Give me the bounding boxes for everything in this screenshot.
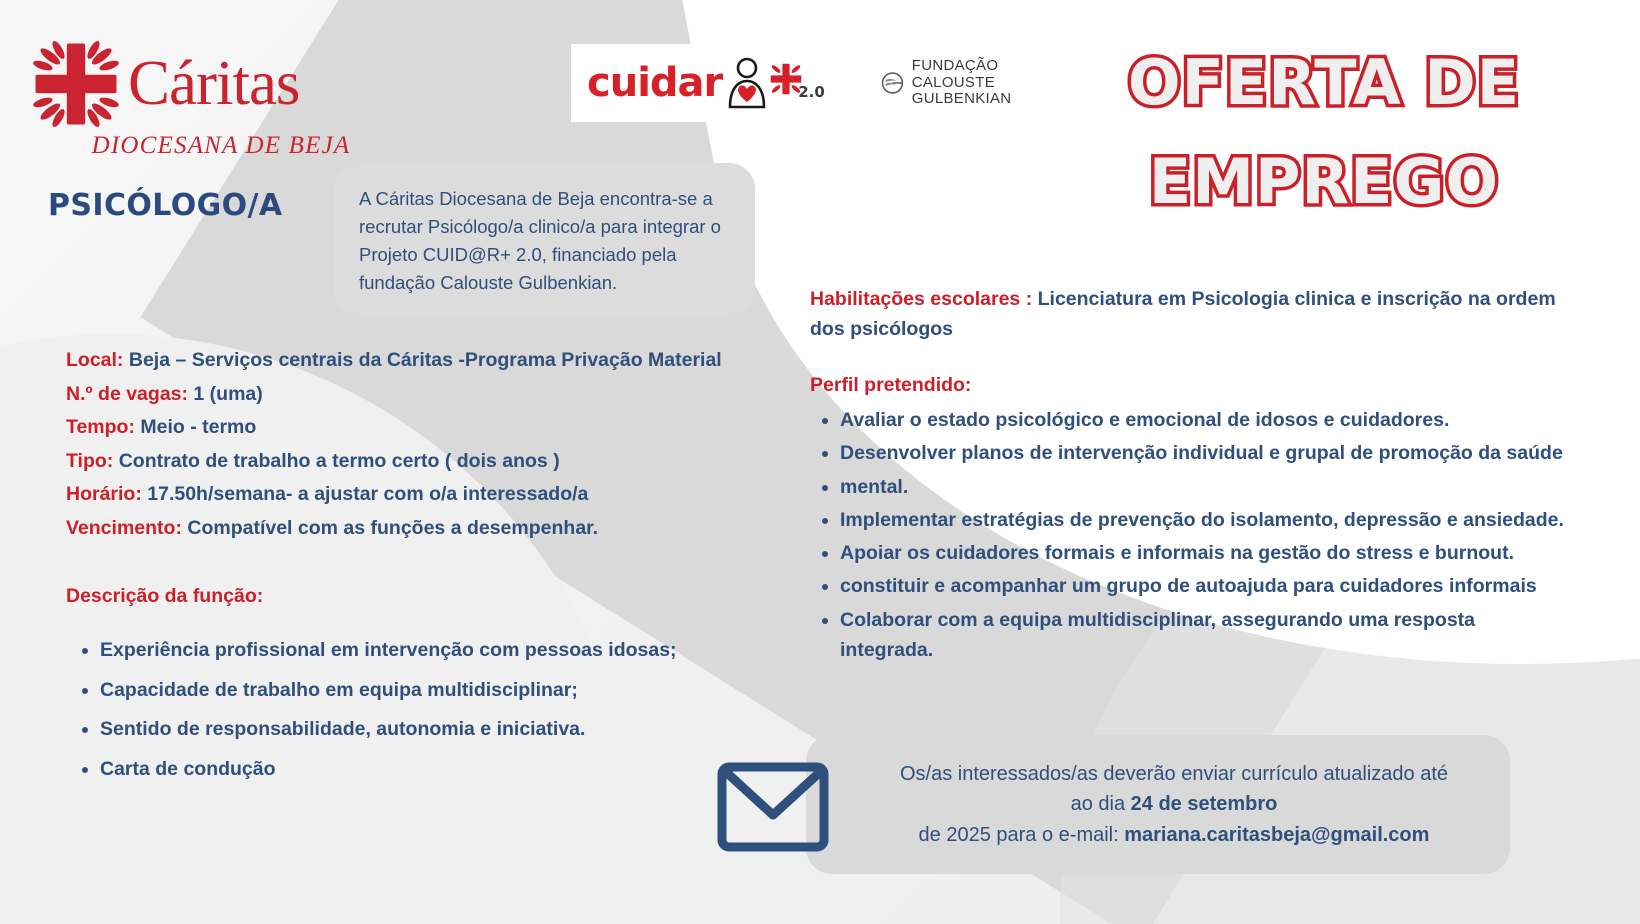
detail-row-horario: Horário: 17.50h/semana- a ajustar com o/…	[66, 478, 796, 512]
job-intro-text: A Cáritas Diocesana de Beja encontra-se …	[359, 185, 729, 297]
list-item: Carta de condução	[100, 753, 796, 787]
detail-label: Local:	[66, 349, 123, 371]
detail-row-tempo: Tempo: Meio - termo	[66, 411, 796, 445]
detail-row-local: Local: Beja – Serviços centrais da Cárit…	[66, 344, 796, 378]
qualifications-row: Habilitações escolares : Licenciatura em…	[810, 285, 1570, 344]
detail-row-vencimento: Vencimento: Compatível com as funções a …	[66, 512, 796, 546]
job-offer-poster: Cáritas DIOCESANA DE BEJA cuidar	[0, 0, 1640, 924]
job-intro-box: A Cáritas Diocesana de Beja encontra-se …	[333, 163, 755, 317]
detail-row-vagas: N.º de vagas: 1 (uma)	[66, 378, 796, 412]
detail-value: Contrato de trabalho a termo certo ( doi…	[113, 450, 559, 472]
gulbenkian-line2: CALOUSTE GULBENKIAN	[912, 75, 1055, 109]
list-item: Avaliar o estado psicológico e emocional…	[840, 405, 1570, 435]
list-item: Experiência profissional em intervenção …	[100, 634, 796, 668]
poster-headline: OFERTA DE EMPREGO	[1044, 48, 1604, 217]
cuidar-version-label: 2.0	[798, 83, 825, 101]
contact-line-3: de 2025 para o e-mail: mariana.caritasbe…	[864, 820, 1484, 850]
list-item: Capacidade de trabalho em equipa multidi…	[100, 674, 796, 708]
detail-value: Compatível com as funções a desempenhar.	[182, 517, 598, 539]
list-item: Implementar estratégias de prevenção do …	[840, 505, 1570, 535]
contact-line-2: ao dia 24 de setembro	[864, 789, 1484, 819]
detail-value: 1 (uma)	[188, 383, 263, 405]
headline-line-1: OFERTA DE	[1044, 48, 1604, 117]
job-details-list: Local: Beja – Serviços centrais da Cárit…	[66, 344, 796, 545]
list-item: mental.	[840, 472, 1570, 502]
contact-block: Os/as interessados/as deverão enviar cur…	[714, 735, 1510, 874]
gulbenkian-line1: FUNDAÇÃO	[912, 58, 1055, 75]
contact-line-1: Os/as interessados/as deverão enviar cur…	[864, 759, 1484, 789]
detail-label: Vencimento:	[66, 517, 182, 539]
detail-value: 17.50h/semana- a ajustar com o/a interes…	[142, 483, 589, 505]
description-list: Experiência profissional em intervenção …	[66, 634, 796, 786]
detail-value: Beja – Serviços centrais da Cáritas -Pro…	[123, 349, 721, 371]
caregiver-figure-icon	[724, 57, 770, 109]
cuidar-wordmark: cuidar	[587, 60, 722, 106]
caritas-logo: Cáritas DIOCESANA DE BEJA	[30, 38, 360, 160]
contact-line-3-prefix: de 2025 para o e-mail:	[919, 824, 1125, 846]
caritas-cross-icon	[30, 38, 122, 130]
list-item: Desenvolver planos de intervenção indivi…	[840, 438, 1570, 468]
list-item: Colaborar com a equipa multidisciplinar,…	[840, 605, 1570, 665]
list-item: Sentido de responsabilidade, autonomia e…	[100, 713, 796, 747]
detail-label: N.º de vagas:	[66, 383, 188, 405]
deadline-date: 24 de setembro	[1131, 793, 1278, 815]
list-item: Apoiar os cuidadores formais e informais…	[840, 538, 1570, 568]
qualifications-label: Habilitações escolares :	[810, 288, 1032, 310]
list-item: constituir e acompanhar um grupo de auto…	[840, 571, 1570, 601]
detail-label: Tipo:	[66, 450, 113, 472]
detail-value: Meio - termo	[135, 416, 256, 438]
contact-line-2-prefix: ao dia	[1071, 793, 1131, 815]
headline-line-2: EMPREGO	[1044, 147, 1604, 216]
envelope-icon	[714, 753, 832, 857]
detail-label: Horário:	[66, 483, 142, 505]
detail-label: Tempo:	[66, 416, 135, 438]
gulbenkian-emblem-icon	[881, 68, 904, 98]
left-column: Local: Beja – Serviços centrais da Cárit…	[66, 344, 796, 792]
description-heading: Descrição da função:	[66, 585, 796, 608]
detail-row-tipo: Tipo: Contrato de trabalho a termo certo…	[66, 445, 796, 479]
contact-info-box: Os/as interessados/as deverão enviar cur…	[806, 735, 1510, 874]
caritas-subtitle: DIOCESANA DE BEJA	[30, 132, 360, 160]
partner-logos-strip: cuidar 2.0	[571, 44, 1055, 122]
gulbenkian-logo: FUNDAÇÃO CALOUSTE GULBENKIAN	[881, 58, 1055, 108]
cuidar-logo: cuidar 2.0	[571, 57, 825, 109]
caritas-wordmark: Cáritas	[128, 54, 299, 114]
profile-heading: Perfil pretendido:	[810, 374, 1570, 397]
right-column: Habilitações escolares : Licenciatura em…	[810, 285, 1570, 668]
job-title: PSICÓLOGO/A	[48, 188, 283, 223]
gulbenkian-text: FUNDAÇÃO CALOUSTE GULBENKIAN	[912, 58, 1055, 108]
contact-email: mariana.caritasbeja@gmail.com	[1124, 824, 1429, 846]
profile-list: Avaliar o estado psicológico e emocional…	[810, 405, 1570, 665]
